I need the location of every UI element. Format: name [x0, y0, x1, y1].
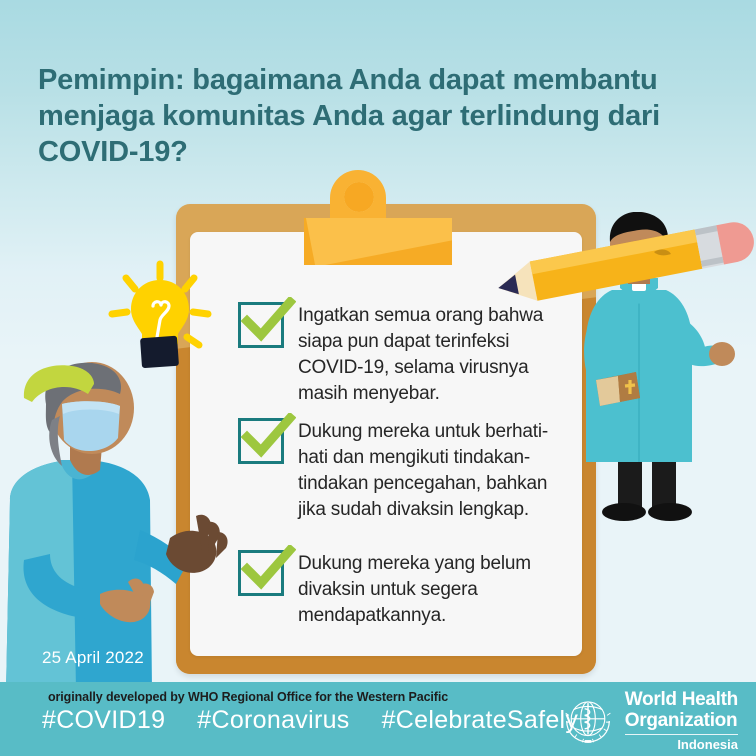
list-item-label: Dukung mereka untuk berhati-hati dan men… — [298, 418, 548, 523]
checkbox-checked[interactable] — [238, 302, 284, 348]
giant-pencil-icon — [488, 218, 756, 310]
poster-canvas: Pemimpin: bagaimana Anda dapat membantu … — [0, 0, 756, 756]
hashtag-celebratesafely[interactable]: #CelebrateSafely — [382, 706, 579, 735]
who-wordmark: World Health Organization Indonesia — [625, 690, 738, 751]
hashtag-list: #COVID19 #Coronavirus #CelebrateSafely — [42, 706, 578, 735]
footer-bar: originally developed by WHO Regional Off… — [0, 682, 756, 756]
hashtag-covid19[interactable]: #COVID19 — [42, 706, 165, 735]
list-item: Dukung mereka untuk berhati-hati dan men… — [238, 418, 548, 523]
page-title: Pemimpin: bagaimana Anda dapat membantu … — [38, 62, 718, 170]
credit-text: originally developed by WHO Regional Off… — [48, 690, 448, 704]
list-item: Ingatkan semua orang bahwa siapa pun dap… — [238, 302, 548, 407]
who-rod-of-asclepius-emblem — [560, 693, 616, 749]
who-logo: World Health Organization Indonesia — [560, 690, 738, 751]
who-line1: World Health — [625, 690, 738, 709]
hashtag-coronavirus[interactable]: #Coronavirus — [197, 706, 349, 735]
list-item: Dukung mereka yang belum divaksin untuk … — [238, 550, 548, 629]
list-item-label: Ingatkan semua orang bahwa siapa pun dap… — [298, 302, 548, 407]
who-divider — [625, 734, 738, 735]
list-item-label: Dukung mereka yang belum divaksin untuk … — [298, 550, 548, 629]
checkmark-icon — [240, 297, 296, 343]
who-country: Indonesia — [625, 738, 738, 751]
who-line2: Organization — [625, 711, 738, 730]
publication-date: 25 April 2022 — [42, 648, 144, 668]
community-leader-figure — [0, 360, 250, 690]
